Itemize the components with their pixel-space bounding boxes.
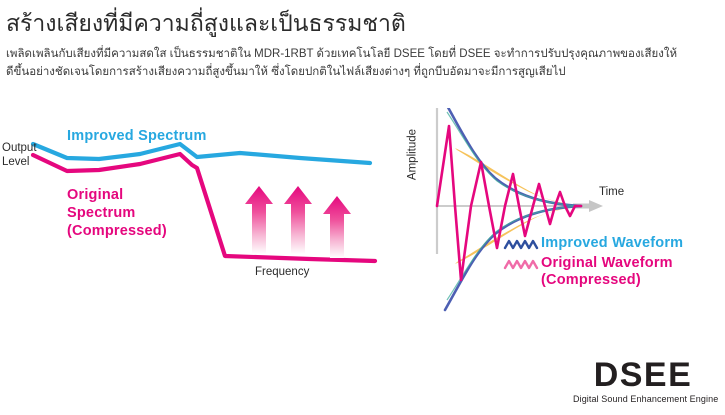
original-spectrum-label-line3: (Compressed) <box>67 223 167 239</box>
page-description-line-1: เพลิดเพลินกับเสียงที่มีความสดใส เป็นธรรม… <box>6 46 720 64</box>
up-arrow-icon <box>284 186 312 254</box>
dsee-logo-tagline: Digital Sound Enhancement Engine <box>573 393 713 405</box>
spectrum-chart: OutputLevel Frequency Improved Spectrum … <box>0 108 385 308</box>
improved-spectrum-label: Improved Spectrum <box>67 130 207 143</box>
legend-label-improved-waveform: Improved Waveform <box>541 235 683 252</box>
up-arrow-icon <box>245 186 273 254</box>
arrow-right-icon <box>589 200 603 212</box>
page-description: เพลิดเพลินกับเสียงที่มีความสดใส เป็นธรรม… <box>6 46 720 81</box>
wave-icon <box>503 257 541 273</box>
improved-spectrum-line <box>33 144 370 163</box>
waveform-chart: Amplitude Time Improved Waveform Origina… <box>395 108 725 318</box>
page-description-line-2: ดีขึ้นอย่างชัดเจนโดยการสร้างเสียงความถี่… <box>6 64 720 82</box>
waveform-x-axis-label: Time <box>599 186 624 199</box>
spectrum-boost-arrows <box>245 186 351 258</box>
page-title: สร้างเสียงที่มีความถี่สูงและเป็นธรรมชาติ <box>6 8 718 38</box>
legend-label-original-waveform: Original Waveform(Compressed) <box>541 255 673 289</box>
legend-label-original-waveform-line1: Original Waveform <box>541 255 673 271</box>
spectrum-y-axis-label: OutputLevel <box>2 141 37 169</box>
original-spectrum-label-line1: Original <box>67 187 123 203</box>
dsee-logo-mark: DSEE <box>573 358 713 392</box>
spectrum-y-axis-label-line2: Level <box>2 156 30 168</box>
up-arrow-icon <box>323 196 351 258</box>
spectrum-y-axis-label-line1: Output <box>2 142 37 154</box>
dsee-logo: DSEE Digital Sound Enhancement Engine <box>573 358 713 405</box>
waveform-y-axis-label: Amplitude <box>407 120 420 190</box>
spectrum-x-axis-label: Frequency <box>255 266 309 279</box>
original-spectrum-label-line2: Spectrum <box>67 205 135 221</box>
legend-item-improved-waveform: Improved Waveform <box>503 235 683 253</box>
wave-icon <box>503 237 541 253</box>
waveform-legend: Improved Waveform Original Waveform(Comp… <box>503 235 683 291</box>
legend-item-original-waveform: Original Waveform(Compressed) <box>503 255 683 289</box>
legend-label-original-waveform-line2: (Compressed) <box>541 272 641 288</box>
original-spectrum-label: OriginalSpectrum(Compressed) <box>67 186 167 240</box>
